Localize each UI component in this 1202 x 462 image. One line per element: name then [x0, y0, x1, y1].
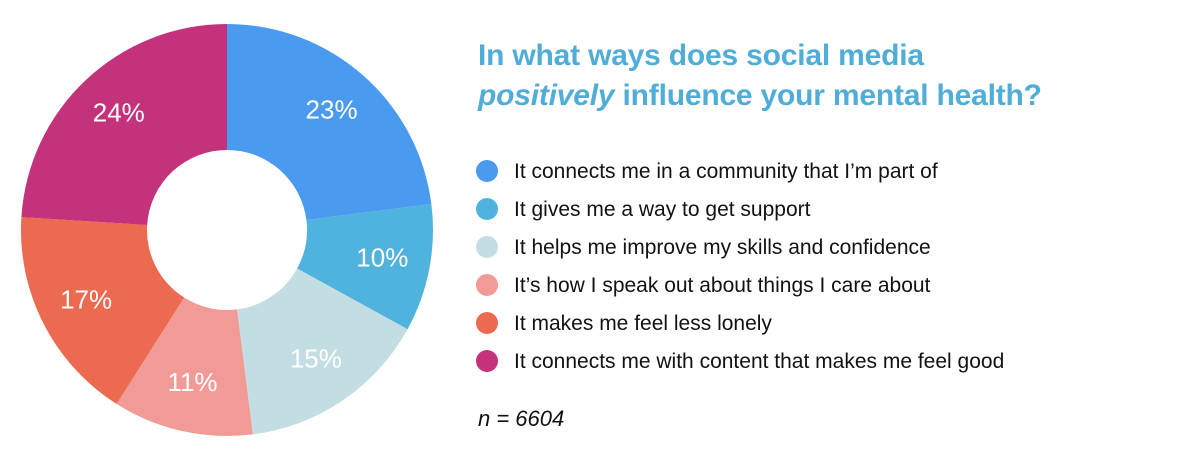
chart-title-line2: influence your mental health?	[614, 79, 1041, 112]
legend-item[interactable]: It makes me feel less lonely	[474, 304, 1202, 342]
chart-page: 23%10%15%11%17%24% In what ways does soc…	[0, 0, 1202, 462]
legend-item-label: It connects me with content that makes m…	[514, 351, 1004, 372]
legend-item[interactable]: It helps me improve my skills and confid…	[474, 228, 1202, 266]
legend-swatch-icon	[476, 236, 498, 258]
donut-slice-label: 10%	[356, 243, 408, 273]
donut-slice-label: 11%	[167, 367, 217, 397]
legend-item-label: It connects me in a community that I’m p…	[514, 161, 938, 182]
legend-swatch-icon	[476, 312, 498, 334]
legend-swatch-icon	[476, 350, 498, 372]
legend-item[interactable]: It gives me a way to get support	[474, 190, 1202, 228]
legend-item[interactable]: It’s how I speak out about things I care…	[474, 266, 1202, 304]
legend-item-label: It makes me feel less lonely	[514, 313, 772, 334]
chart-title-emphasis: positively	[478, 79, 614, 112]
legend-item[interactable]: It connects me in a community that I’m p…	[474, 152, 1202, 190]
chart-legend: It connects me in a community that I’m p…	[474, 152, 1202, 380]
donut-chart: 23%10%15%11%17%24%	[0, 0, 462, 462]
legend-item-label: It helps me improve my skills and confid…	[514, 237, 931, 258]
legend-item-label: It’s how I speak out about things I care…	[514, 275, 930, 296]
donut-slice-label: 23%	[306, 94, 358, 124]
chart-title: In what ways does social media positivel…	[478, 36, 1200, 116]
donut-chart-svg: 23%10%15%11%17%24%	[0, 0, 462, 462]
legend-swatch-icon	[476, 160, 498, 182]
donut-slice-label: 17%	[60, 285, 112, 315]
legend-swatch-icon	[476, 198, 498, 220]
legend-swatch-icon	[476, 274, 498, 296]
donut-slice-label: 15%	[290, 344, 342, 374]
donut-slice-label: 24%	[93, 98, 145, 128]
legend-item[interactable]: It connects me with content that makes m…	[474, 342, 1202, 380]
sample-size-note: n = 6604	[478, 406, 564, 432]
donut-slices	[21, 24, 433, 436]
chart-info-panel: In what ways does social media positivel…	[474, 0, 1202, 462]
legend-item-label: It gives me a way to get support	[514, 199, 810, 220]
chart-title-line1: In what ways does social media	[478, 39, 924, 72]
